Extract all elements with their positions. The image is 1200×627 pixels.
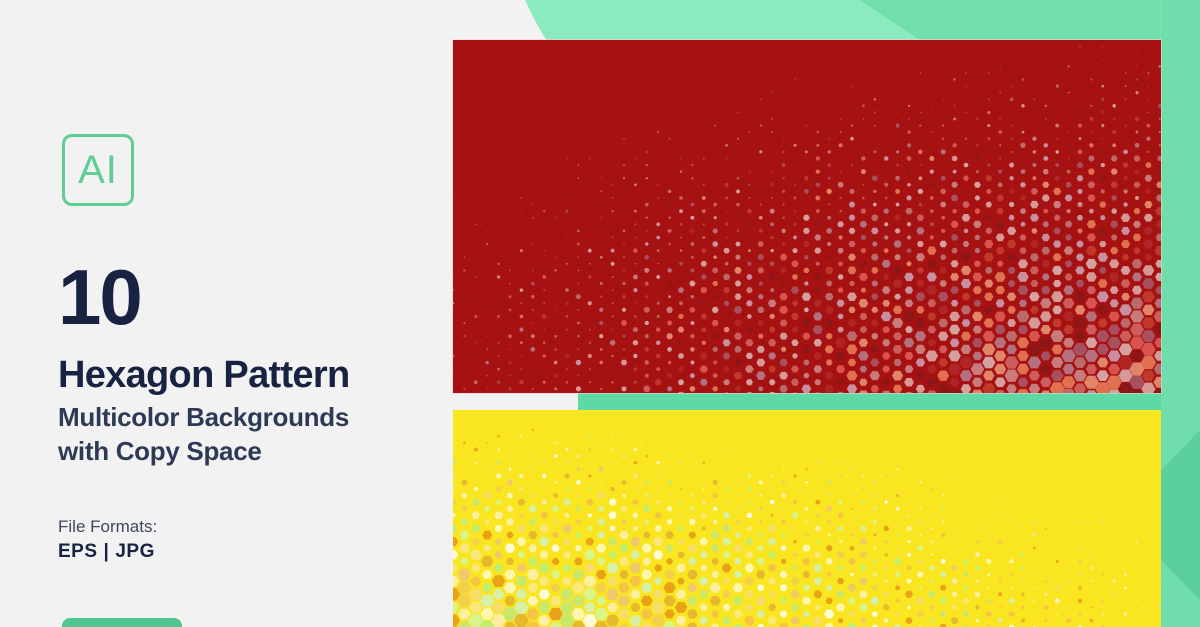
cta-button[interactable] [62, 618, 182, 627]
page-subtitle: Multicolor Backgrounds with Copy Space [58, 400, 458, 468]
red-hexagon-preview[interactable] [453, 40, 1161, 393]
item-count: 10 [58, 258, 141, 336]
file-formats-value: EPS|JPG [58, 540, 155, 564]
mint-wedge-lower [1162, 390, 1200, 560]
adobe-illustrator-badge-icon: AI [62, 134, 134, 206]
mint-right-column [1161, 0, 1200, 627]
format-separator: | [98, 541, 116, 562]
mint-sliver-between-panels [578, 391, 1200, 411]
red-hexagon-pattern [453, 40, 1161, 393]
mint-wedge-right-edge [1160, 0, 1200, 627]
promo-banner: AI 10 Hexagon Pattern Multicolor Backgro… [0, 0, 1200, 627]
format-eps: EPS [58, 541, 98, 562]
format-jpg: JPG [115, 541, 155, 562]
subtitle-line-1: Multicolor Backgrounds [58, 400, 458, 434]
mint-right-column-shade [1161, 430, 1200, 600]
yellow-hexagon-pattern [453, 410, 1161, 627]
info-column: AI 10 Hexagon Pattern Multicolor Backgro… [0, 0, 453, 627]
ai-badge-label: AI [78, 150, 118, 190]
file-formats-label: File Formats: [58, 516, 157, 538]
page-title: Hexagon Pattern [58, 352, 349, 398]
yellow-hexagon-preview[interactable] [453, 410, 1161, 627]
subtitle-line-2: with Copy Space [58, 434, 458, 468]
